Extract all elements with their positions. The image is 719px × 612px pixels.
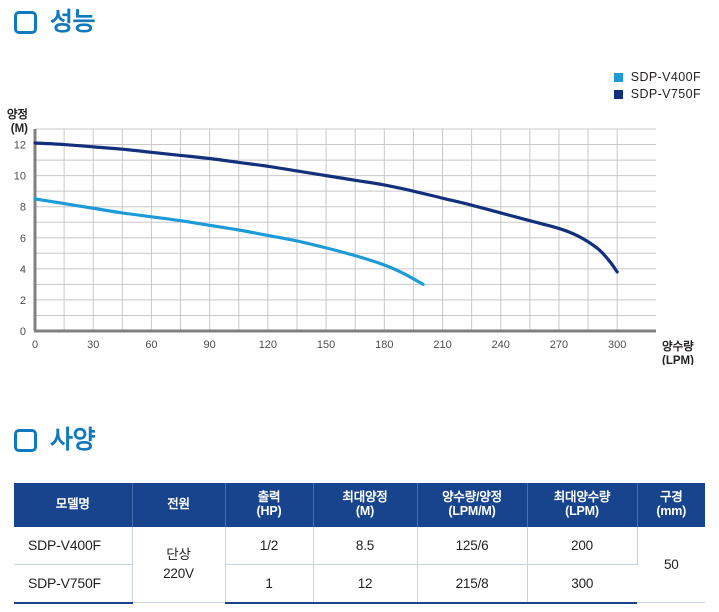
col-header-output-unit: (HP) bbox=[228, 504, 311, 518]
col-header-max-flow-unit: (LPM) bbox=[530, 504, 635, 518]
cell-flow-head: 125/6 bbox=[417, 527, 527, 565]
cell-model: SDP-V750F bbox=[14, 564, 132, 603]
legend-swatch-sdp-v400f bbox=[614, 73, 623, 82]
chart-x-tick-labels: 0306090120150180210240270300 bbox=[32, 339, 626, 351]
cell-output: 1/2 bbox=[225, 527, 313, 565]
x-tick-180: 180 bbox=[375, 339, 393, 351]
col-header-model-label: 모델명 bbox=[56, 497, 90, 511]
legend-item: SDP-V750F bbox=[614, 87, 701, 101]
col-header-flow-head-label: 양수량/양정 bbox=[442, 490, 502, 504]
x-axis-unit: (LPM) bbox=[662, 355, 694, 365]
x-tick-120: 120 bbox=[259, 339, 277, 351]
col-header-output-label: 출력 bbox=[258, 490, 281, 504]
square-outline-icon bbox=[14, 11, 37, 34]
col-header-max-flow-label: 최대양수량 bbox=[554, 490, 611, 504]
y-tick-6: 6 bbox=[20, 233, 26, 245]
section-heading-performance: 성능 bbox=[14, 10, 95, 35]
col-header-max-head: 최대양정 (M) bbox=[313, 483, 417, 527]
cell-power-line2: 220V bbox=[135, 565, 223, 583]
x-tick-270: 270 bbox=[550, 339, 568, 351]
chart-svg: 024681012 0306090120150180210240270300 양… bbox=[0, 105, 719, 365]
col-header-model: 모델명 bbox=[14, 483, 132, 527]
col-header-bore: 구경 (mm) bbox=[637, 483, 705, 527]
y-axis-title: 양정 bbox=[7, 107, 28, 121]
cell-flow-head: 215/8 bbox=[417, 564, 527, 603]
col-header-max-head-label: 최대양정 bbox=[342, 490, 387, 504]
col-header-output: 출력 (HP) bbox=[225, 483, 313, 527]
col-header-max-head-unit: (M) bbox=[316, 504, 415, 518]
col-header-power: 전원 bbox=[132, 483, 225, 527]
legend-label-sdp-v400f: SDP-V400F bbox=[631, 70, 701, 84]
col-header-bore-label: 구경 bbox=[660, 490, 683, 504]
section-heading-spec: 사양 bbox=[14, 428, 95, 453]
x-tick-0: 0 bbox=[32, 339, 38, 351]
cell-max-head: 8.5 bbox=[313, 527, 417, 565]
table-row: SDP-V750F 1 12 215/8 300 bbox=[14, 564, 705, 603]
cell-max-flow: 300 bbox=[527, 564, 637, 603]
section-title-performance: 성능 bbox=[50, 10, 95, 35]
cell-output: 1 bbox=[225, 564, 313, 603]
legend-swatch-sdp-v750f bbox=[614, 90, 623, 99]
cell-power-line1: 단상 bbox=[135, 546, 223, 564]
x-tick-30: 30 bbox=[87, 339, 99, 351]
col-header-bore-unit: (mm) bbox=[640, 504, 704, 518]
section-title-spec: 사양 bbox=[50, 428, 95, 453]
chart-y-tick-labels: 024681012 bbox=[14, 140, 26, 338]
chart-legend: SDP-V400F SDP-V750F bbox=[614, 70, 701, 101]
spec-table: 모델명 전원 출력 (HP) 최대양정 (M) 양수량/양정 (LPM/M) 최… bbox=[14, 483, 705, 604]
x-tick-210: 210 bbox=[433, 339, 451, 351]
table-row: SDP-V400F 단상 220V 1/2 8.5 125/6 200 50 bbox=[14, 527, 705, 565]
col-header-flow-head: 양수량/양정 (LPM/M) bbox=[417, 483, 527, 527]
cell-max-head: 12 bbox=[313, 564, 417, 603]
cell-power-merged: 단상 220V bbox=[132, 527, 225, 603]
x-tick-150: 150 bbox=[317, 339, 335, 351]
cell-max-flow: 200 bbox=[527, 527, 637, 565]
cell-bore-merged: 50 bbox=[637, 527, 705, 603]
x-tick-60: 60 bbox=[145, 339, 157, 351]
y-tick-4: 4 bbox=[20, 264, 26, 276]
table-header-row: 모델명 전원 출력 (HP) 최대양정 (M) 양수량/양정 (LPM/M) 최… bbox=[14, 483, 705, 527]
y-tick-0: 0 bbox=[20, 326, 26, 338]
legend-item: SDP-V400F bbox=[614, 70, 701, 84]
y-axis-unit: (M) bbox=[11, 123, 28, 135]
x-tick-300: 300 bbox=[608, 339, 626, 351]
x-tick-90: 90 bbox=[204, 339, 216, 351]
legend-label-sdp-v750f: SDP-V750F bbox=[631, 87, 701, 101]
square-outline-icon bbox=[14, 429, 37, 452]
y-tick-2: 2 bbox=[20, 295, 26, 307]
x-tick-240: 240 bbox=[492, 339, 510, 351]
col-header-max-flow: 최대양수량 (LPM) bbox=[527, 483, 637, 527]
y-tick-10: 10 bbox=[14, 171, 26, 183]
performance-chart: 024681012 0306090120150180210240270300 양… bbox=[0, 105, 719, 365]
y-tick-12: 12 bbox=[14, 140, 26, 152]
x-axis-title: 양수량 bbox=[662, 339, 694, 353]
y-tick-8: 8 bbox=[20, 202, 26, 214]
col-header-flow-head-unit: (LPM/M) bbox=[420, 504, 525, 518]
col-header-power-label: 전원 bbox=[167, 497, 190, 511]
cell-model: SDP-V400F bbox=[14, 527, 132, 565]
